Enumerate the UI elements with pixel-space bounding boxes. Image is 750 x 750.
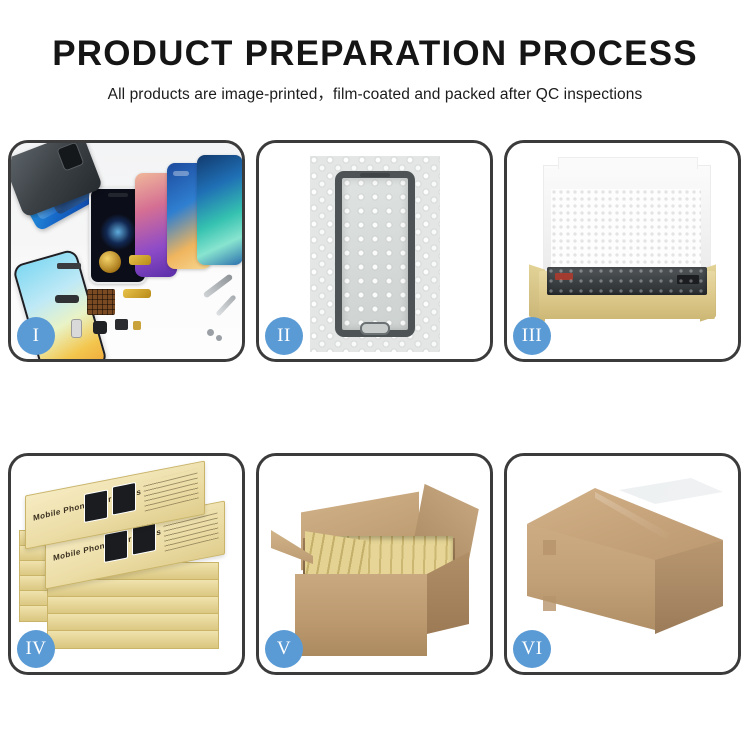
red-sticker [555,273,573,280]
earpiece-mesh-part [57,263,81,269]
page-subtitle: All products are image-printed，film-coat… [0,82,750,108]
step-badge-3: III [513,317,551,355]
carton-front-panel [295,574,427,656]
bubble-wrap-sheet [310,156,440,352]
box-label-product-photo [84,489,108,523]
carton-tape-mark-bottom [543,596,556,611]
flex-cable-part-2 [123,289,151,298]
step-panel-6[interactable]: VI [504,453,741,675]
step-panel-1[interactable]: I [8,140,245,362]
home-button-cutout [360,322,390,335]
page-header: PRODUCT PREPARATION PROCESS All products… [0,32,750,108]
foam-padding [551,189,701,271]
speaker-part [115,319,128,330]
speaker-coil-part [99,251,121,273]
stacked-box-slab [47,630,219,649]
box-label-spec-lines [143,469,198,512]
dark-connector [677,275,699,284]
box-label-product-photo [112,482,136,516]
step-panel-2[interactable]: II [256,140,493,362]
step-badge-6: VI [513,630,551,668]
step-badge-2: II [265,317,303,355]
step-panel-4[interactable]: Mobile Phone Spare Parts Mobile Phone Sp… [8,453,245,675]
carton-tape-mark-top [543,540,556,555]
chip-grid-part [87,289,115,315]
step-badge-4: IV [17,630,55,668]
process-steps-grid: I II III [8,140,742,680]
screw-part-1 [207,329,214,336]
step-badge-5: V [265,630,303,668]
flex-cable-part-3 [55,295,79,303]
camera-module-part [93,321,107,334]
screw-part-2 [216,335,222,341]
step-badge-1: I [17,317,55,355]
phone-gradient-teal [197,155,242,265]
box-label-product-photo [104,529,128,563]
sim-tray-part [71,319,82,338]
step-panel-5[interactable]: V [256,453,493,675]
flex-cable-part-1 [129,255,151,265]
connector-part [133,321,141,330]
step-panel-3[interactable]: III [504,140,741,362]
page-title: PRODUCT PREPARATION PROCESS [0,32,750,76]
wrapped-screen-glass [335,171,415,337]
packed-screen-in-box [547,267,707,295]
